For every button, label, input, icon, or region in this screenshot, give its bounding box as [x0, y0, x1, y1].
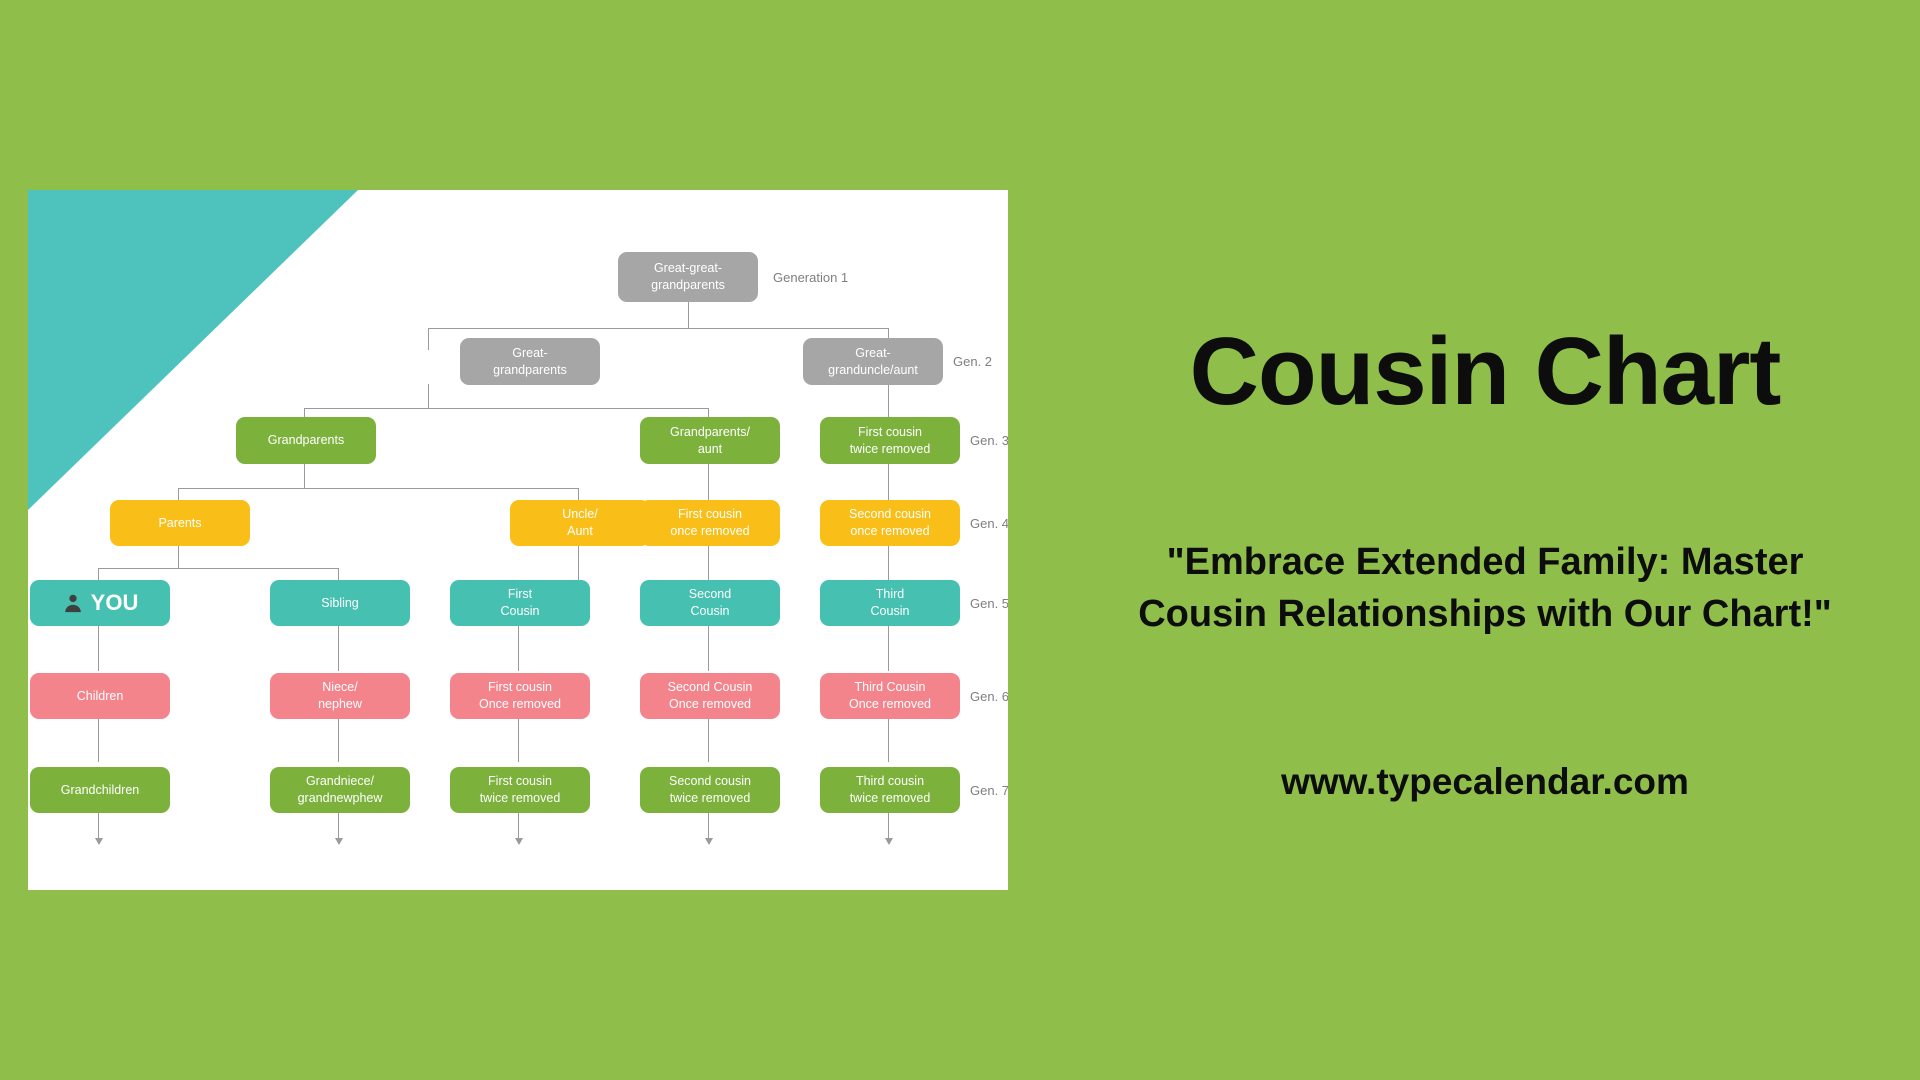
- connector: [708, 625, 709, 671]
- connector: [688, 302, 689, 329]
- right-text-panel: Cousin Chart "Embrace Extended Family: M…: [1050, 0, 1920, 1080]
- node-first-cousin[interactable]: FirstCousin: [450, 580, 590, 626]
- node-first-cousin-twice-removed-gen3[interactable]: First cousintwice removed: [820, 417, 960, 464]
- node-you[interactable]: YOU: [30, 580, 170, 626]
- gen-label-1: Generation 1: [773, 270, 848, 285]
- connector: [178, 545, 179, 569]
- node-grandparents[interactable]: Grandparents: [236, 417, 376, 464]
- connector: [518, 812, 519, 840]
- node-second-cousin-twice-removed-gen7[interactable]: Second cousintwice removed: [640, 767, 780, 813]
- gen-label-4: Gen. 4: [970, 516, 1008, 531]
- node-second-cousin-once-removed-gen6[interactable]: Second CousinOnce removed: [640, 673, 780, 719]
- gen-label-2: Gen. 2: [953, 354, 992, 369]
- node-grandparents-aunt[interactable]: Grandparents/aunt: [640, 417, 780, 464]
- connector: [338, 718, 339, 762]
- node-first-cousin-once-removed-gen4[interactable]: First cousinonce removed: [640, 500, 780, 546]
- node-children[interactable]: Children: [30, 673, 170, 719]
- node-third-cousin[interactable]: ThirdCousin: [820, 580, 960, 626]
- arrow-head: [95, 838, 103, 845]
- node-first-cousin-twice-removed-gen7[interactable]: First cousintwice removed: [450, 767, 590, 813]
- node-uncle-aunt[interactable]: Uncle/Aunt: [510, 500, 650, 546]
- connector: [98, 625, 99, 671]
- node-third-cousin-once-removed-gen6[interactable]: Third CousinOnce removed: [820, 673, 960, 719]
- node-grandchildren[interactable]: Grandchildren: [30, 767, 170, 813]
- node-great-grandparents[interactable]: Great-grandparents: [460, 338, 600, 385]
- arrow-head: [885, 838, 893, 845]
- connector: [428, 384, 429, 409]
- node-sibling[interactable]: Sibling: [270, 580, 410, 626]
- person-icon: [62, 592, 84, 614]
- node-first-cousin-once-removed-gen6[interactable]: First cousinOnce removed: [450, 673, 590, 719]
- gen-label-5: Gen. 5: [970, 596, 1008, 611]
- node-niece-nephew[interactable]: Niece/nephew: [270, 673, 410, 719]
- node-great-granduncle-aunt[interactable]: Great-granduncle/aunt: [803, 338, 943, 385]
- connector: [428, 328, 429, 350]
- connector: [98, 568, 338, 569]
- node-second-cousin-once-removed-gen4[interactable]: Second cousinonce removed: [820, 500, 960, 546]
- gen-label-3: Gen. 3: [970, 433, 1008, 448]
- connector: [304, 408, 708, 409]
- connector: [888, 812, 889, 840]
- connector: [338, 812, 339, 840]
- arrow-head: [335, 838, 343, 845]
- tagline: "Embrace Extended Family: Master Cousin …: [1138, 537, 1832, 640]
- connector: [98, 812, 99, 840]
- connector: [518, 625, 519, 671]
- connector: [518, 718, 519, 762]
- connector: [708, 718, 709, 762]
- node-second-cousin[interactable]: SecondCousin: [640, 580, 780, 626]
- cousin-chart-card: COUSIN CHART Great-: [28, 190, 1008, 890]
- gen-label-6: Gen. 6: [970, 689, 1008, 704]
- connector: [428, 328, 888, 329]
- arrow-head: [515, 838, 523, 845]
- connector: [708, 812, 709, 840]
- node-third-cousin-twice-removed-gen7[interactable]: Third cousintwice removed: [820, 767, 960, 813]
- connector: [888, 625, 889, 671]
- tagline-line-2: Cousin Relationships with Our Chart!": [1138, 589, 1832, 641]
- connector: [888, 718, 889, 762]
- arrow-head: [705, 838, 713, 845]
- node-grandniece-grandnephew[interactable]: Grandniece/grandnewphew: [270, 767, 410, 813]
- connector: [304, 463, 305, 489]
- node-parents[interactable]: Parents: [110, 500, 250, 546]
- connector: [178, 488, 578, 489]
- connector: [338, 625, 339, 671]
- website-url: www.typecalendar.com: [1281, 761, 1689, 803]
- node-you-label: YOU: [91, 588, 139, 618]
- tagline-line-1: "Embrace Extended Family: Master: [1138, 537, 1832, 589]
- page-title: Cousin Chart: [1190, 317, 1781, 427]
- gen-label-7: Gen. 7: [970, 783, 1008, 798]
- node-great-great-grandparents[interactable]: Great-great-grandparents: [618, 252, 758, 302]
- connector: [98, 718, 99, 762]
